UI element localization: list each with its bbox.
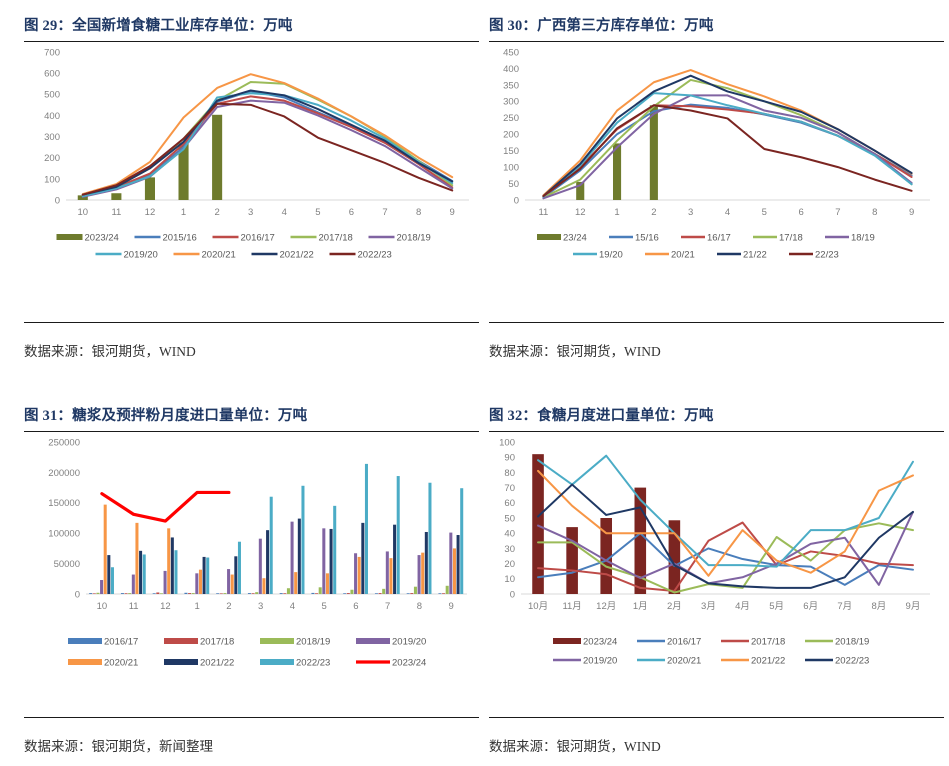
x-axis-tick-label: 10月 [528, 601, 548, 612]
bar-2022-23-7 [397, 476, 400, 594]
legend-label: 17/18 [779, 232, 803, 243]
bar-2022-23-12 [174, 550, 177, 594]
figure-30-title: 图 30：广西第三方库存单位：万吨 [489, 14, 944, 41]
chart-31-svg: 0500001000001500002000002500001011121234… [24, 432, 479, 692]
figure-30-source-block: 数据来源：银河期货，WIND [489, 322, 944, 360]
x-axis-tick-label: 12 [160, 601, 171, 612]
figure-29-block: 图 29：全国新增食糖工业库存单位：万吨 0100200300400500600… [24, 14, 479, 317]
bar-12 [145, 177, 155, 200]
x-axis-tick-label: 8 [416, 207, 421, 218]
x-axis-tick-label: 12 [145, 207, 156, 218]
legend-item-2016-17: 2016/17 [637, 636, 701, 647]
bar-2019-20-7 [386, 551, 389, 594]
x-axis-tick-label: 9 [909, 207, 914, 218]
legend-swatch [356, 638, 390, 644]
bar-2018-19-12 [160, 593, 163, 594]
x-axis-tick-label: 10 [97, 601, 108, 612]
legend-item-2019-20: 2019/20 [553, 655, 617, 666]
bar-2016-17-9 [438, 593, 441, 594]
y-axis-tick-label: 150000 [48, 498, 80, 509]
bar-2019-20-10 [100, 580, 103, 594]
legend-item-16-17: 16/17 [681, 232, 731, 243]
bar-2016-17-4 [280, 593, 283, 594]
legend-label: 2018/19 [397, 232, 431, 243]
bar-2021-22-6 [361, 523, 364, 594]
x-axis-tick-label: 4 [282, 207, 287, 218]
legend-label: 15/16 [635, 232, 659, 243]
bar-2018-19-3 [255, 592, 258, 594]
x-axis-tick-label: 3 [258, 601, 263, 612]
bar-2020-21-8 [421, 553, 424, 594]
legend-label: 2017/18 [751, 636, 785, 647]
x-axis-tick-label: 1 [194, 601, 199, 612]
y-axis-tick-label: 500 [44, 90, 60, 101]
bar-2 [212, 115, 222, 200]
x-axis-tick-label: 4 [725, 207, 730, 218]
legend-swatch [260, 659, 294, 665]
bar-2017-18-8 [410, 593, 413, 594]
legend-label: 2023/24 [85, 232, 119, 243]
legend-item-2020-21: 2020/21 [68, 657, 138, 668]
bar-2019-20-9 [449, 533, 452, 594]
y-axis-tick-label: 0 [514, 195, 519, 206]
bar-2018-19-2 [223, 593, 226, 594]
y-axis-tick-label: 200 [44, 153, 60, 164]
y-axis-tick-label: 350 [503, 80, 519, 91]
chart-30-svg: 0501001502002503003504004501112123456789… [489, 42, 944, 317]
bar-2021-22-7 [393, 525, 396, 594]
bar-2016-17-10 [89, 593, 92, 594]
legend-label: 2021/22 [751, 655, 785, 666]
figure-30-block: 图 30：广西第三方库存单位：万吨 0501001502002503003504… [489, 14, 944, 317]
legend-label: 2021/22 [280, 249, 314, 260]
bar-2022-23-1 [206, 558, 209, 594]
x-axis-tick-label: 10 [78, 207, 89, 218]
legend-label: 2020/21 [667, 655, 701, 666]
x-axis-tick-label: 5 [315, 207, 320, 218]
x-axis-tick-label: 12 [575, 207, 586, 218]
legend-label: 22/23 [815, 249, 839, 260]
legend-label: 2019/20 [583, 655, 617, 666]
x-axis-tick-label: 11 [111, 207, 121, 218]
legend-item-2016-17: 2016/17 [68, 636, 138, 647]
legend-swatch [164, 638, 198, 644]
legend-item-2017-18: 2017/18 [291, 232, 353, 243]
x-axis-tick-label: 4月 [735, 601, 750, 612]
legend-item-2023-24: 2023/24 [356, 657, 426, 668]
legend-label: 2020/21 [104, 657, 138, 668]
bar-2021-22-2 [234, 556, 237, 594]
report-page: 图 29：全国新增食糖工业库存单位：万吨 0100200300400500600… [0, 0, 949, 766]
legend-item-2018-19: 2018/19 [805, 636, 869, 647]
bar-2016-17-8 [407, 593, 410, 594]
legend-label: 2023/24 [583, 636, 617, 647]
legend-label: 2017/18 [319, 232, 353, 243]
bar-2018-19-1 [192, 593, 195, 594]
bar-2017-18-7 [379, 593, 382, 594]
y-axis-tick-label: 80 [504, 468, 515, 479]
bar-2018-19-9 [446, 586, 449, 594]
bar-2018-19-5 [319, 587, 322, 594]
x-axis-tick-label: 8 [417, 601, 422, 612]
y-axis-tick-label: 70 [504, 483, 515, 494]
bar-2022-23-9 [460, 488, 463, 594]
bar-2021-22-9 [457, 535, 460, 594]
legend-label: 18/19 [851, 232, 875, 243]
y-axis-tick-label: 300 [44, 132, 60, 143]
bar-2017-18-3 [252, 593, 255, 594]
x-axis-tick-label: 7 [835, 207, 840, 218]
chart-29-svg: 0100200300400500600700101112123456789202… [24, 42, 479, 317]
x-axis-tick-label: 2 [226, 601, 231, 612]
bar-2020-21-11 [135, 523, 138, 594]
bar-2022-23-8 [428, 483, 431, 594]
y-axis-tick-label: 0 [510, 589, 515, 600]
figure-32-chart: 010203040506070809010010月11月12月1月2月3月4月5… [489, 432, 944, 692]
bar-2020-21-3 [262, 578, 265, 594]
legend-item-2022-23: 2022/23 [805, 655, 869, 666]
y-axis-tick-label: 250000 [48, 437, 80, 448]
bar-2019-20-2 [227, 569, 230, 594]
figure-31-chart: 0500001000001500002000002500001011121234… [24, 432, 479, 692]
legend-swatch [68, 638, 102, 644]
bar-2020-21-5 [326, 573, 329, 594]
y-axis-tick-label: 400 [44, 111, 60, 122]
bar-2019-20-4 [291, 522, 294, 594]
y-axis-tick-label: 50 [504, 513, 515, 524]
legend-item-20-21: 20/21 [645, 249, 695, 260]
x-axis-tick-label: 6 [349, 207, 354, 218]
legend-label: 2017/18 [200, 636, 234, 647]
legend-item-19-20: 19/20 [573, 249, 623, 260]
legend-swatch [260, 638, 294, 644]
y-axis-tick-label: 40 [504, 529, 515, 540]
x-axis-tick-label: 2 [651, 207, 656, 218]
x-axis-tick-label: 9 [448, 601, 453, 612]
line-series-2021-22 [538, 471, 913, 576]
legend-label: 2018/19 [296, 636, 330, 647]
figure-30-source: 数据来源：银河期货，WIND [489, 323, 944, 360]
legend-item-2018-19: 2018/19 [369, 232, 431, 243]
y-axis-tick-label: 600 [44, 69, 60, 80]
bar-2017-18-5 [315, 593, 318, 594]
legend-item-2022-23: 2022/23 [330, 249, 392, 260]
bar-2019-20-11 [132, 575, 135, 594]
bar-2020-21-10 [104, 505, 107, 594]
bar-2018-19-11 [128, 593, 131, 594]
legend-label: 2022/23 [358, 249, 392, 260]
legend-label: 16/17 [707, 232, 731, 243]
y-axis-tick-label: 10 [504, 574, 515, 585]
legend-swatch [537, 234, 561, 240]
bar-2018-19-4 [287, 588, 290, 594]
bar-2021-22-12 [171, 537, 174, 594]
legend-item-2023-24: 2023/24 [57, 232, 119, 243]
figure-32-block: 图 32：食糖月度进口量单位：万吨 0102030405060708090100… [489, 404, 944, 692]
legend-label: 2023/24 [392, 657, 426, 668]
legend-label: 2016/17 [241, 232, 275, 243]
legend-label: 2018/19 [835, 636, 869, 647]
legend-label: 2020/21 [202, 249, 236, 260]
x-axis-tick-label: 3月 [701, 601, 716, 612]
legend-item-2016-17: 2016/17 [213, 232, 275, 243]
bar-2022-23-2 [238, 542, 241, 594]
bar-2016-17-7 [375, 593, 378, 594]
legend-item-2018-19: 2018/19 [260, 636, 330, 647]
bar-2021-22-1 [203, 557, 206, 594]
bar-2022-23-4 [301, 486, 304, 594]
bar-2017-18-4 [283, 593, 286, 594]
bar-2020-21-1 [199, 570, 202, 594]
figure-32-source: 数据来源：银河期货，WIND [489, 718, 944, 755]
y-axis-tick-label: 150 [503, 146, 519, 157]
legend-label: 2019/20 [392, 636, 426, 647]
bar-2021-22-5 [330, 529, 333, 594]
y-axis-tick-label: 450 [503, 47, 519, 58]
y-axis-tick-label: 20 [504, 559, 515, 570]
figure-31-block: 图 31：糖浆及预拌粉月度进口量单位：万吨 050000100000150000… [24, 404, 479, 692]
bar-2017-18-1 [188, 593, 191, 594]
legend-swatch [553, 638, 581, 644]
line-series-22-23 [543, 105, 911, 196]
legend-label: 21/22 [743, 249, 767, 260]
legend-item-2021-22: 2021/22 [721, 655, 785, 666]
x-axis-tick-label: 6 [798, 207, 803, 218]
y-axis-tick-label: 300 [503, 97, 519, 108]
x-axis-tick-label: 2 [214, 207, 219, 218]
bar-2017-18-6 [347, 593, 350, 594]
legend-label: 2019/20 [124, 249, 158, 260]
figure-29-source: 数据来源：银河期货，WIND [24, 323, 479, 360]
y-axis-tick-label: 90 [504, 453, 515, 464]
bar-2018-19-7 [382, 589, 385, 594]
bar-2020-21-4 [294, 572, 297, 594]
y-axis-tick-label: 50000 [54, 559, 80, 570]
bar-2022-23-3 [270, 497, 273, 594]
x-axis-tick-label: 1 [181, 207, 186, 218]
line-series-17-18 [543, 80, 911, 197]
legend-label: 2022/23 [835, 655, 869, 666]
legend-item-2020-21: 2020/21 [637, 655, 701, 666]
x-axis-tick-label: 5 [321, 601, 326, 612]
y-axis-tick-label: 0 [75, 589, 80, 600]
x-axis-tick-label: 1月 [633, 601, 648, 612]
bar-2021-22-3 [266, 530, 269, 594]
x-axis-tick-label: 1 [614, 207, 619, 218]
legend-label: 2015/16 [163, 232, 197, 243]
bar-2022-23-10 [111, 567, 114, 594]
legend-label: 2021/22 [200, 657, 234, 668]
y-axis-tick-label: 200000 [48, 468, 80, 479]
y-axis-tick-label: 50 [508, 179, 519, 190]
bar-2020-21-6 [358, 557, 361, 594]
figure-31-title: 图 31：糖浆及预拌粉月度进口量单位：万吨 [24, 404, 479, 431]
legend-item-2019-20: 2019/20 [356, 636, 426, 647]
x-axis-tick-label: 11 [129, 601, 139, 612]
legend-item-18-19: 18/19 [825, 232, 875, 243]
bar-2018-19-6 [350, 590, 353, 594]
bar-2016-17-6 [343, 593, 346, 594]
bar-2017-18-12 [156, 592, 159, 594]
y-axis-tick-label: 100 [499, 437, 515, 448]
bar-2016-17-2 [216, 593, 219, 594]
line-series-2020-21 [538, 456, 913, 567]
bar-2019-20-1 [195, 573, 198, 594]
bar-2021-22-11 [139, 551, 142, 594]
legend-item-2019-20: 2019/20 [96, 249, 158, 260]
legend-item-22-23: 22/23 [789, 249, 839, 260]
legend-label: 2016/17 [104, 636, 138, 647]
x-axis-tick-label: 8月 [871, 601, 886, 612]
bar-2018-19-10 [96, 593, 99, 594]
figure-31-source: 数据来源：银河期货，新闻整理 [24, 718, 479, 755]
bar-2020-21-7 [389, 558, 392, 594]
figure-31-source-block: 数据来源：银河期货，新闻整理 [24, 717, 479, 755]
bar-2017-18-2 [220, 593, 223, 594]
x-axis-tick-label: 12月 [596, 601, 616, 612]
legend-label: 2016/17 [667, 636, 701, 647]
legend-swatch [164, 659, 198, 665]
x-axis-tick-label: 5月 [769, 601, 784, 612]
bar-2016-17-12 [153, 593, 156, 594]
x-axis-tick-label: 3 [248, 207, 253, 218]
legend-item-2023-24: 2023/24 [553, 636, 617, 647]
x-axis-tick-label: 7 [382, 207, 387, 218]
x-axis-tick-label: 11 [538, 207, 548, 218]
legend-item-2017-18: 2017/18 [164, 636, 234, 647]
x-axis-tick-label: 7月 [837, 601, 852, 612]
figure-29-chart: 0100200300400500600700101112123456789202… [24, 42, 479, 317]
y-axis-tick-label: 100000 [48, 529, 80, 540]
legend-item-23-24: 23/24 [537, 232, 587, 243]
bar-2 [650, 105, 658, 200]
bar-2021-22-10 [107, 555, 110, 594]
x-axis-tick-label: 5 [762, 207, 767, 218]
y-axis-tick-label: 0 [55, 195, 60, 206]
bar-2017-18-10 [93, 593, 96, 594]
x-axis-tick-label: 9月 [906, 601, 921, 612]
legend-item-2020-21: 2020/21 [174, 249, 236, 260]
y-axis-tick-label: 100 [44, 174, 60, 185]
bar-2020-21-2 [231, 575, 234, 594]
y-axis-tick-label: 250 [503, 113, 519, 124]
legend-item-2017-18: 2017/18 [721, 636, 785, 647]
bar-2016-17-3 [248, 593, 251, 594]
bar-2021-22-4 [298, 519, 301, 594]
figure-30-chart: 0501001502002503003504004501112123456789… [489, 42, 944, 317]
figure-32-source-block: 数据来源：银河期货，WIND [489, 717, 944, 755]
bar-11月 [566, 527, 578, 594]
bar-2018-19-8 [414, 587, 417, 594]
x-axis-tick-label: 3 [688, 207, 693, 218]
figure-32-title: 图 32：食糖月度进口量单位：万吨 [489, 404, 944, 431]
y-axis-tick-label: 30 [504, 544, 515, 555]
bar-2017-18-11 [125, 593, 128, 594]
bar-2019-20-3 [259, 539, 262, 594]
legend-item-2021-22: 2021/22 [164, 657, 234, 668]
x-axis-tick-label: 7 [385, 601, 390, 612]
bar-2019-20-12 [164, 571, 167, 594]
x-axis-tick-label: 6月 [803, 601, 818, 612]
bar-2019-20-6 [354, 553, 357, 594]
y-axis-tick-label: 100 [503, 163, 519, 174]
x-axis-tick-label: 2月 [667, 601, 682, 612]
legend-item-15-16: 15/16 [609, 232, 659, 243]
x-axis-tick-label: 6 [353, 601, 358, 612]
figure-29-source-block: 数据来源：银河期货，WIND [24, 322, 479, 360]
bar-2020-21-9 [453, 548, 456, 594]
legend-item-17-18: 17/18 [753, 232, 803, 243]
bar-2022-23-5 [333, 506, 336, 594]
x-axis-tick-label: 8 [872, 207, 877, 218]
bar-2020-21-12 [167, 528, 170, 594]
legend-item-21-22: 21/22 [717, 249, 767, 260]
bar-2022-23-11 [143, 554, 146, 594]
y-axis-tick-label: 200 [503, 130, 519, 141]
legend-item-2021-22: 2021/22 [252, 249, 314, 260]
bar-2019-20-5 [322, 528, 325, 594]
line-series-2023-24 [102, 492, 229, 521]
x-axis-tick-label: 11月 [562, 601, 581, 612]
legend-label: 2022/23 [296, 657, 330, 668]
bar-1 [613, 143, 621, 200]
legend-label: 23/24 [563, 232, 587, 243]
y-axis-tick-label: 700 [44, 47, 60, 58]
chart-32-svg: 010203040506070809010010月11月12月1月2月3月4月5… [489, 432, 944, 692]
bar-2016-17-11 [121, 593, 124, 594]
figure-29-title: 图 29：全国新增食糖工业库存单位：万吨 [24, 14, 479, 41]
legend-item-2022-23: 2022/23 [260, 657, 330, 668]
bar-2016-17-1 [184, 593, 187, 594]
x-axis-tick-label: 4 [290, 601, 295, 612]
bar-2022-23-6 [365, 464, 368, 594]
bar-2019-20-8 [418, 555, 421, 594]
legend-label: 20/21 [671, 249, 695, 260]
bar-2016-17-5 [311, 593, 314, 594]
legend-swatch [57, 234, 83, 240]
legend-swatch [68, 659, 102, 665]
y-axis-tick-label: 60 [504, 498, 515, 509]
bar-11 [111, 193, 121, 200]
bar-2021-22-8 [425, 532, 428, 594]
x-axis-tick-label: 9 [450, 207, 455, 218]
y-axis-tick-label: 400 [503, 64, 519, 75]
legend-label: 19/20 [599, 249, 623, 260]
legend-item-2015-16: 2015/16 [135, 232, 197, 243]
bar-2017-18-9 [442, 593, 445, 594]
